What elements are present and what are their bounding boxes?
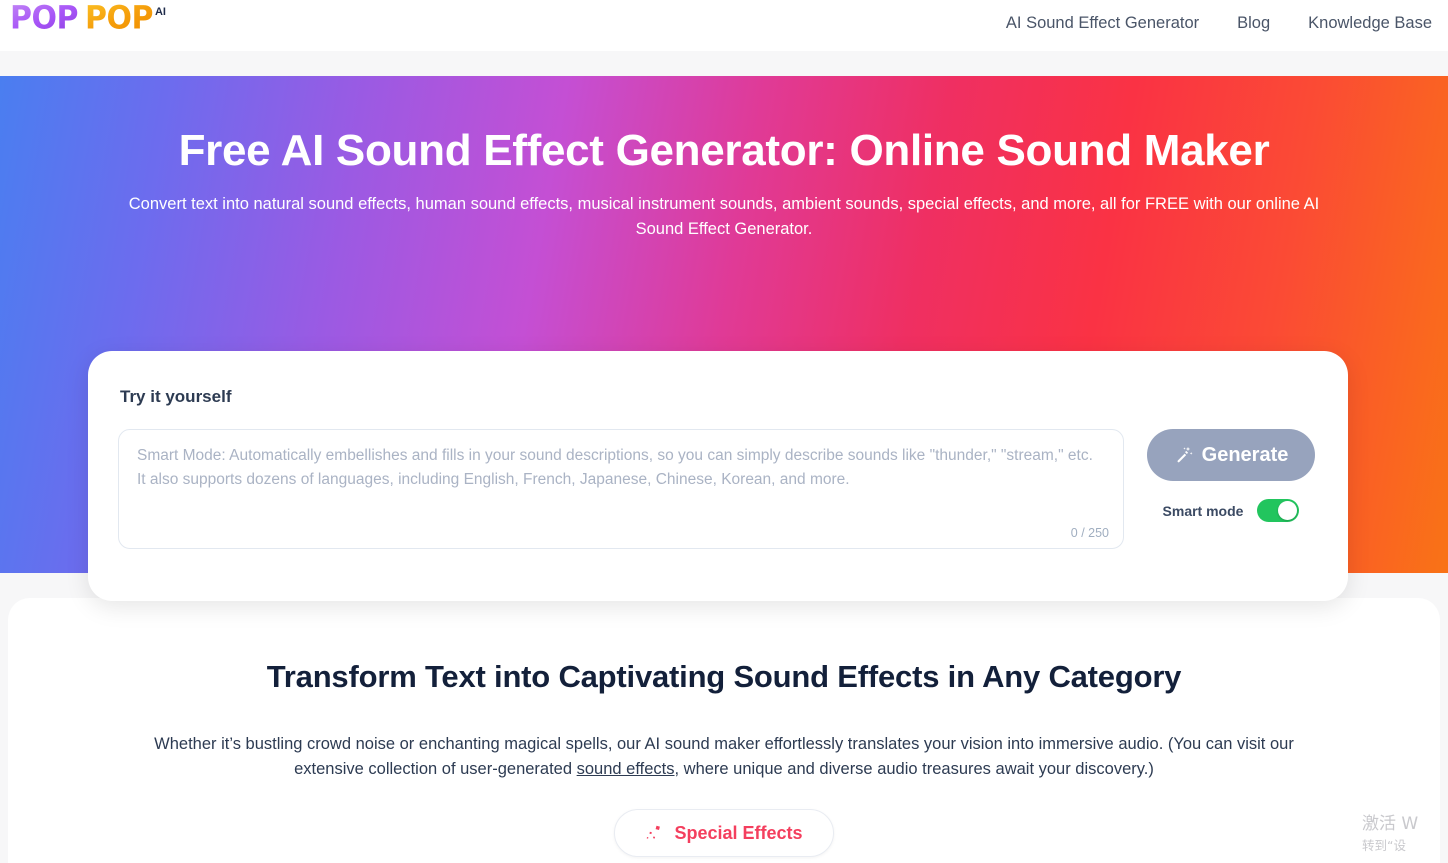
generate-controls: Generate Smart mode [1146, 429, 1316, 522]
section-paragraph: Whether it’s bustling crowd noise or enc… [134, 732, 1314, 782]
generate-button[interactable]: Generate [1147, 429, 1315, 481]
content-section-card: Transform Text into Captivating Sound Ef… [8, 598, 1440, 863]
smart-mode-label: Smart mode [1163, 503, 1244, 519]
try-card-title: Try it yourself [120, 387, 1318, 407]
smart-mode-row: Smart mode [1146, 499, 1316, 522]
header-divider-strip [0, 51, 1448, 76]
generate-button-label: Generate [1202, 444, 1289, 467]
nav-knowledge-base[interactable]: Knowledge Base [1308, 14, 1432, 33]
hero-subtitle: Convert text into natural sound effects,… [122, 192, 1327, 241]
sound-effects-link[interactable]: sound effects [577, 760, 675, 778]
sound-prompt-input[interactable]: Smart Mode: Automatically embellishes an… [118, 429, 1124, 549]
site-header: POP POP AI AI Sound Effect Generator Blo… [0, 0, 1448, 51]
character-counter: 0 / 250 [1071, 526, 1109, 540]
logo-suffix-ai: AI [155, 6, 166, 18]
page-root: POP POP AI AI Sound Effect Generator Blo… [0, 0, 1448, 863]
nav-ai-sound-effect-generator[interactable]: AI Sound Effect Generator [1006, 14, 1199, 33]
try-it-yourself-card: Try it yourself Smart Mode: Automaticall… [88, 351, 1348, 601]
main-navigation: AI Sound Effect Generator Blog Knowledge… [1006, 14, 1448, 33]
sparkle-icon [645, 824, 664, 843]
smart-mode-toggle-knob [1278, 501, 1297, 520]
chip-special-effects-label: Special Effects [674, 823, 802, 844]
page-title: Free AI Sound Effect Generator: Online S… [179, 127, 1270, 175]
hero-section: Free AI Sound Effect Generator: Online S… [0, 76, 1448, 573]
section-title: Transform Text into Captivating Sound Ef… [267, 659, 1181, 695]
logo-word-pop-purple: POP [10, 2, 78, 34]
site-logo[interactable]: POP POP AI [4, 4, 166, 34]
try-card-body: Smart Mode: Automatically embellishes an… [118, 429, 1318, 549]
logo-word-pop-orange: POP [85, 2, 153, 34]
chip-special-effects[interactable]: Special Effects [614, 809, 833, 857]
smart-mode-toggle[interactable] [1257, 499, 1299, 522]
section-paragraph-part2: , where unique and diverse audio treasur… [674, 760, 1153, 778]
magic-wand-icon [1174, 445, 1194, 465]
nav-blog[interactable]: Blog [1237, 14, 1270, 33]
sound-prompt-placeholder: Smart Mode: Automatically embellishes an… [137, 444, 1105, 493]
category-chip-row: Special Effects [614, 809, 833, 857]
